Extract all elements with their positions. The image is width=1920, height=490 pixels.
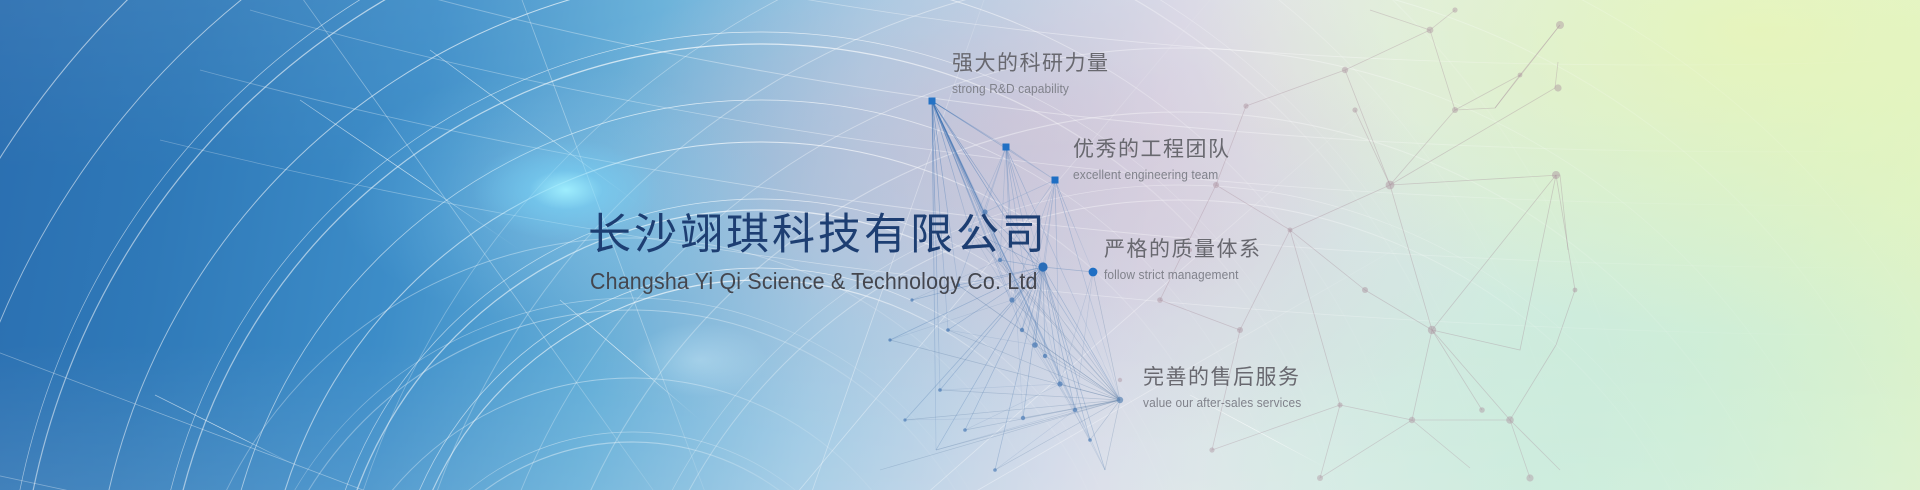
feature-label-cn: 优秀的工程团队 xyxy=(1073,138,1231,162)
feature-item-engineering: 优秀的工程团队 excellent engineering team xyxy=(1073,138,1231,182)
feature-label-cn: 强大的科研力量 xyxy=(952,52,1110,76)
feature-label-cn: 完善的售后服务 xyxy=(1143,366,1315,390)
feature-label-en: follow strict management xyxy=(1104,267,1249,282)
feature-item-rd: 强大的科研力量 strong R&D capability xyxy=(952,52,1110,96)
company-banner: 长沙翊琪科技有限公司 Changsha Yi Qi Science & Tech… xyxy=(0,0,1920,490)
feature-label-cn: 严格的质量体系 xyxy=(1104,238,1262,262)
feature-item-service: 完善的售后服务 value our after-sales services xyxy=(1143,366,1315,410)
feature-label-en: strong R&D capability xyxy=(952,81,1097,96)
company-name-en: Changsha Yi Qi Science & Technology Co. … xyxy=(590,268,1038,295)
feature-label-en: excellent engineering team xyxy=(1073,167,1218,182)
feature-item-quality: 严格的质量体系 follow strict management xyxy=(1104,238,1262,282)
company-title-block: 长沙翊琪科技有限公司 Changsha Yi Qi Science & Tech… xyxy=(588,212,1071,295)
company-name-cn: 长沙翊琪科技有限公司 xyxy=(588,212,1071,259)
feature-label-en: value our after-sales services xyxy=(1143,395,1301,410)
